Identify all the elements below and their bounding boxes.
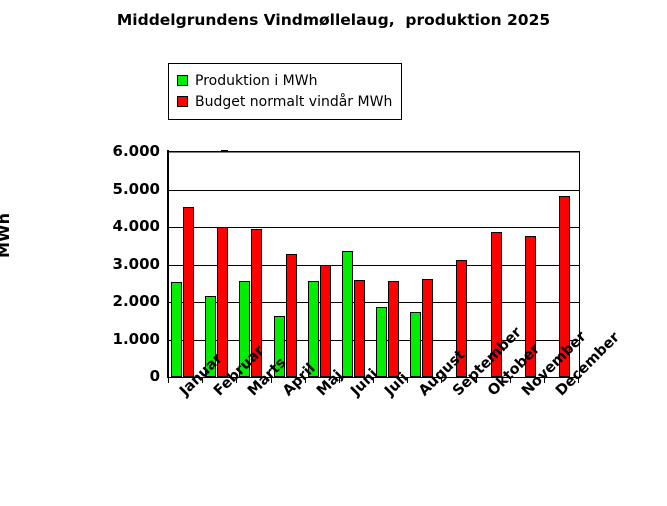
- x-axis-tick-mark: [168, 377, 169, 383]
- y-axis-tick-labels: 01.0002.0003.0004.0005.0006.000: [60, 0, 160, 506]
- bar-maj-budget: [320, 265, 331, 377]
- bar-august-budget: [422, 279, 433, 377]
- x-axis-tick-mark: [373, 377, 374, 383]
- y-axis-tick-label: 2.000: [68, 292, 160, 310]
- x-axis-tick-mark: [271, 377, 272, 383]
- gridline: [169, 152, 579, 153]
- chart-legend: Produktion i MWh Budget normalt vindår M…: [168, 63, 402, 120]
- gridline: [169, 265, 579, 266]
- bar-august-produktion: [410, 312, 421, 377]
- x-axis-tick-mark: [578, 377, 579, 383]
- x-axis-tick-mark: [510, 377, 511, 383]
- bar-januar-budget: [183, 207, 194, 377]
- plot-area: [168, 151, 580, 378]
- y-axis-tick-label: 5.000: [68, 180, 160, 198]
- y-axis-tick-label: 4.000: [68, 217, 160, 235]
- x-axis-tick-mark: [202, 377, 203, 383]
- x-axis-tick-mark: [441, 377, 442, 383]
- bar-januar-produktion: [171, 282, 182, 377]
- bar-april-budget: [286, 254, 297, 377]
- bar-juli-produktion: [376, 307, 387, 378]
- x-axis-tick-mark: [339, 377, 340, 383]
- legend-swatch-red: [177, 96, 188, 107]
- y-axis-title: MWh: [0, 213, 13, 258]
- legend-item-produktion: Produktion i MWh: [177, 70, 392, 91]
- legend-label-budget: Budget normalt vindår MWh: [195, 95, 392, 109]
- y-axis-tick-label: 3.000: [68, 255, 160, 273]
- legend-item-budget: Budget normalt vindår MWh: [177, 91, 392, 112]
- legend-label-produktion: Produktion i MWh: [195, 74, 317, 88]
- y-axis-tick-label: 0: [68, 367, 160, 385]
- legend-swatch-green: [177, 75, 188, 86]
- y-axis-tick-label: 1.000: [68, 330, 160, 348]
- bar-juni-produktion: [342, 251, 353, 377]
- gridline: [169, 190, 579, 191]
- x-axis-tick-mark: [305, 377, 306, 383]
- x-axis-tick-mark: [476, 377, 477, 383]
- x-axis-tick-mark: [236, 377, 237, 383]
- x-axis-tick-mark: [544, 377, 545, 383]
- bar-chart: Middelgrundens Vindmøllelaug, produktion…: [0, 0, 667, 506]
- y-axis-tick-label: 6.000: [68, 142, 160, 160]
- gridline: [169, 302, 579, 303]
- x-axis-tick-mark: [407, 377, 408, 383]
- bar-juni-budget: [354, 280, 365, 378]
- bar-juli-budget: [388, 281, 399, 377]
- gridline: [169, 227, 579, 228]
